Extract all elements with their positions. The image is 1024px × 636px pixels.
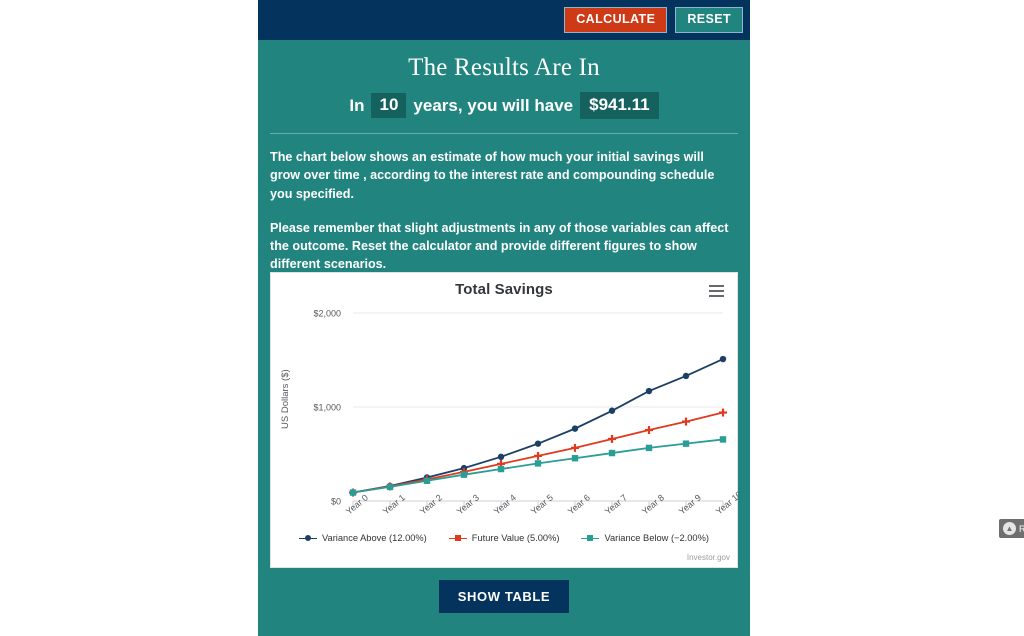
x-axis-tick: Year 3 [455,492,481,516]
chart-point[interactable] [645,426,653,434]
legend-item[interactable]: Future Value (5.00%) [449,533,560,543]
chart-point[interactable] [350,489,356,495]
legend-label: Variance Below (−2.00%) [604,533,708,543]
y-axis-tick: $0 [331,497,341,507]
chart-point[interactable] [571,444,579,452]
chart-point[interactable] [720,436,726,442]
x-axis-tick: Year 4 [492,492,518,516]
chart-point[interactable] [572,455,578,461]
chart-point[interactable] [719,409,727,417]
copy-paragraph-1: The chart below shows an estimate of how… [270,148,736,203]
x-axis-tick: Year 6 [566,492,592,516]
show-table-wrap: SHOW TABLE [258,580,750,613]
chevron-up-circle-icon: ▲ [1003,522,1016,535]
chart-point[interactable] [683,373,689,379]
chart-plot-area: US Dollars ($) $0$1,000$2,000Year 0Year … [271,301,739,531]
y-axis-tick: $2,000 [313,309,341,319]
show-table-button[interactable]: SHOW TABLE [439,580,569,613]
chart-point[interactable] [498,454,504,460]
explanatory-copy: The chart below shows an estimate of how… [258,134,750,274]
chart-point[interactable] [609,408,615,414]
legend-swatch-icon [581,534,599,543]
chart-title: Total Savings [271,273,737,298]
chart-point[interactable] [683,440,689,446]
chart-point[interactable] [461,471,467,477]
chart-point[interactable] [534,452,542,460]
calculator-toolbar: CALCULATE RESET [258,0,750,40]
results-amount-value: $941.11 [580,92,659,119]
x-axis-tick: Year 10 [714,489,739,516]
chart-point[interactable] [646,445,652,451]
x-axis-tick: Year 0 [344,492,370,516]
chart-legend: Variance Above (12.00%)Future Value (5.0… [271,533,737,543]
chart-point[interactable] [720,356,726,362]
legend-swatch-icon [449,534,467,543]
chart-point[interactable] [609,450,615,456]
savings-calculator-panel: CALCULATE RESET The Results Are In In 10… [258,0,750,636]
chart-point[interactable] [646,388,652,394]
legend-label: Variance Above (12.00%) [322,533,427,543]
y-axis-label: US Dollars ($) [280,369,291,429]
x-axis-tick: Year 5 [529,492,555,516]
chart-svg: $0$1,000$2,000Year 0Year 1Year 2Year 3Ye… [271,301,739,531]
chart-point[interactable] [498,466,504,472]
results-header: The Results Are In In 10 years, you will… [258,40,750,119]
back-to-top-label: R [1019,524,1024,534]
chart-credit: Investor.gov [687,553,730,562]
x-axis-tick: Year 8 [640,492,666,516]
copy-paragraph-2: Please remember that slight adjustments … [270,219,736,274]
chart-point[interactable] [572,425,578,431]
x-axis-tick: Year 9 [677,492,703,516]
x-axis-tick: Year 7 [603,492,629,516]
y-axis-tick: $1,000 [313,403,341,413]
reset-button[interactable]: RESET [675,7,743,33]
calculate-button[interactable]: CALCULATE [564,7,667,33]
hamburger-menu-icon[interactable] [709,285,724,300]
chart-point[interactable] [535,460,541,466]
chart-point[interactable] [608,435,616,443]
legend-swatch-icon [299,534,317,543]
chart-point[interactable] [535,440,541,446]
results-heading: The Results Are In [258,54,750,86]
chart-point[interactable] [387,484,393,490]
results-summary: In 10 years, you will have $941.11 [258,86,750,119]
legend-item[interactable]: Variance Above (12.00%) [299,533,427,543]
results-middle-text: years, you will have [413,96,573,116]
x-axis-tick: Year 1 [381,492,407,516]
results-prefix: In [349,96,364,116]
total-savings-chart-card: Total Savings US Dollars ($) $0$1,000$2,… [270,272,738,568]
results-years-value: 10 [371,93,406,118]
chart-point[interactable] [424,478,430,484]
back-to-top-widget[interactable]: ▲ R [999,519,1024,538]
page-root: CALCULATE RESET The Results Are In In 10… [0,0,1024,636]
x-axis-tick: Year 2 [418,492,444,516]
legend-label: Future Value (5.00%) [472,533,560,543]
chart-point[interactable] [682,418,690,426]
legend-item[interactable]: Variance Below (−2.00%) [581,533,708,543]
